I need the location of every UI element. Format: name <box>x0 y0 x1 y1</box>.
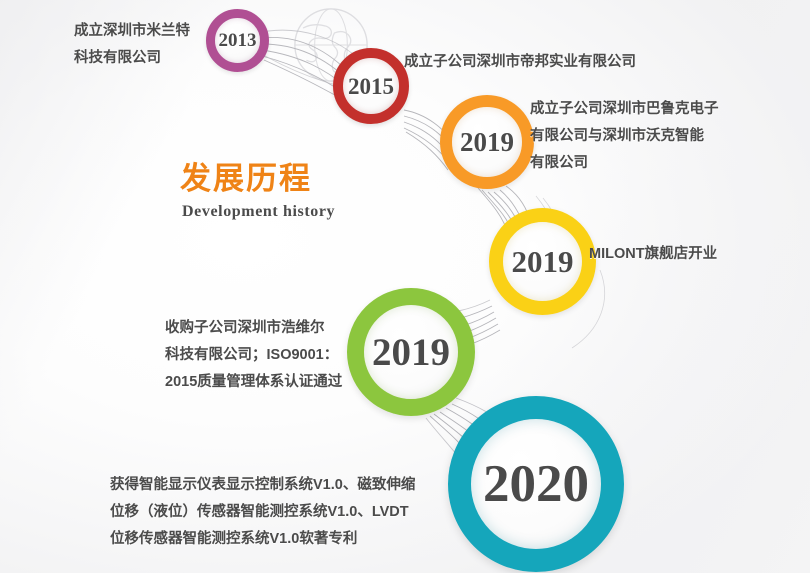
milestone-node-2020[interactable]: 2020 <box>448 396 624 572</box>
milestone-description-2015: 成立子公司深圳市帝邦实业有限公司 <box>404 49 694 76</box>
milestone-description-2020: 获得智能显示仪表显示控制系统V1.0、磁致伸缩 位移（液位）传感器智能测控系统V… <box>110 472 470 553</box>
page-title-en: Development history <box>182 200 440 224</box>
milestone-description-2019-yellow: MILONT旗舰店开业 <box>589 241 809 268</box>
milestone-year-2020: 2020 <box>483 458 589 511</box>
milestone-year-2019-orange: 2019 <box>460 129 514 156</box>
milestone-node-2013[interactable]: 2013 <box>206 9 269 72</box>
milestone-year-2013: 2013 <box>219 31 257 50</box>
milestone-node-2019-green[interactable]: 2019 <box>347 288 475 416</box>
milestone-year-2019-yellow: 2019 <box>512 246 574 277</box>
milestone-node-2015[interactable]: 2015 <box>333 48 409 124</box>
milestone-year-2015: 2015 <box>348 75 394 98</box>
page-title: 发展历程 Development history <box>180 160 440 224</box>
milestone-description-2019-orange: 成立子公司深圳市巴鲁克电子 有限公司与深圳市沃克智能 有限公司 <box>530 96 780 177</box>
milestone-node-2019-orange[interactable]: 2019 <box>440 95 534 189</box>
milestone-year-2019-green: 2019 <box>372 333 450 372</box>
development-history-infographic: 发展历程 Development history 成立深圳市米兰特 科技有限公司… <box>0 0 810 573</box>
page-title-cn: 发展历程 <box>180 160 440 198</box>
milestone-node-2019-yellow[interactable]: 2019 <box>489 208 596 315</box>
